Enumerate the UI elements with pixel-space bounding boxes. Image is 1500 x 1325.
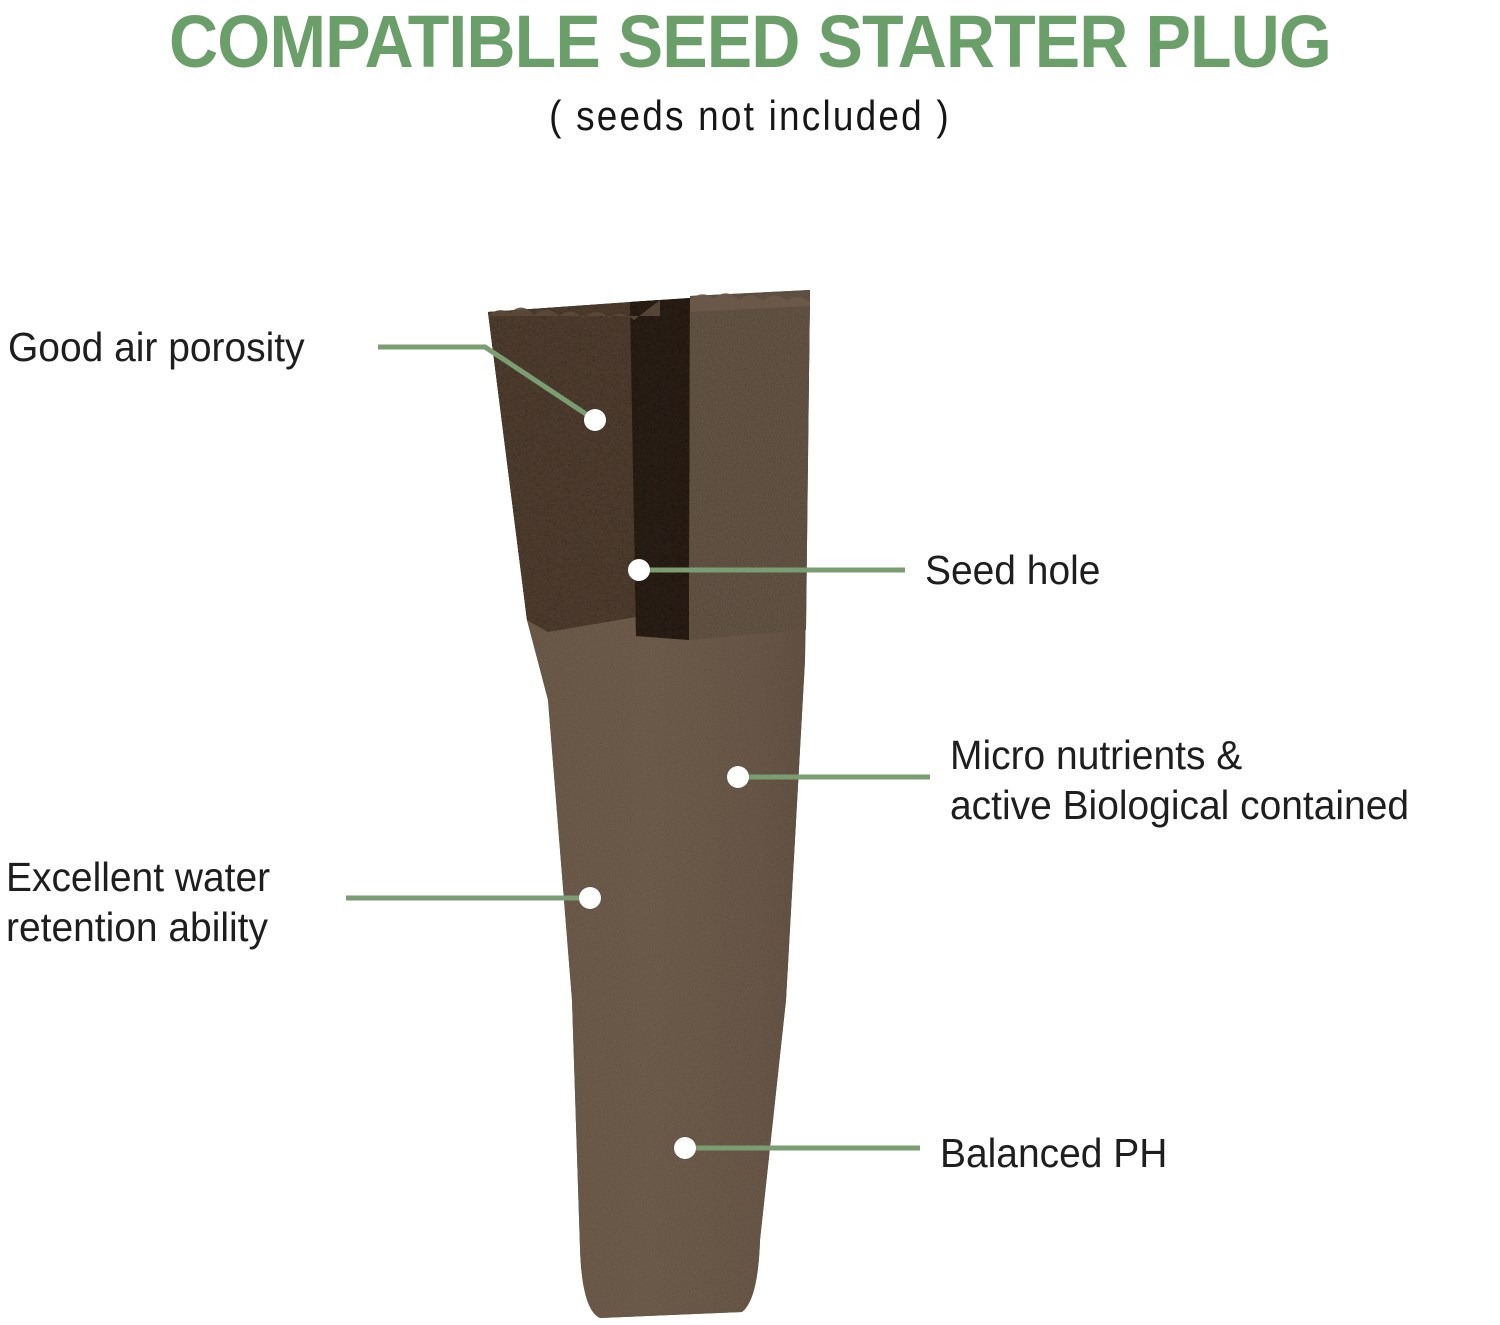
infographic-canvas: COMPATIBLE SEED STARTER PLUG ( seeds not… [0,0,1500,1325]
callout-line: active Biological contained [950,780,1409,830]
callout-balanced-ph: Balanced PH [940,1128,1167,1178]
plug-right-wall [680,280,830,660]
callout-line: retention ability [6,902,270,952]
marker-dot-seed-hole [628,559,650,581]
callout-line: Seed hole [925,545,1100,595]
product-illustration [0,0,1500,1325]
callout-line: Good air porosity [8,322,305,372]
marker-dot-good-air-porosity [584,409,606,431]
callout-good-air-porosity: Good air porosity [8,322,305,372]
callout-line: Micro nutrients & [950,730,1409,780]
callout-water-retention: Excellent water retention ability [6,852,270,952]
marker-dot-balanced-ph [674,1137,696,1159]
callout-micro-nutrients: Micro nutrients & active Biological cont… [950,730,1409,830]
callout-line: Excellent water [6,852,270,902]
marker-dot-micro-nutrients [727,766,749,788]
seed-starter-plug-graphic [0,0,1500,1325]
marker-dot-water-retention [579,887,601,909]
callout-seed-hole: Seed hole [925,545,1100,595]
callout-line: Balanced PH [940,1128,1167,1178]
